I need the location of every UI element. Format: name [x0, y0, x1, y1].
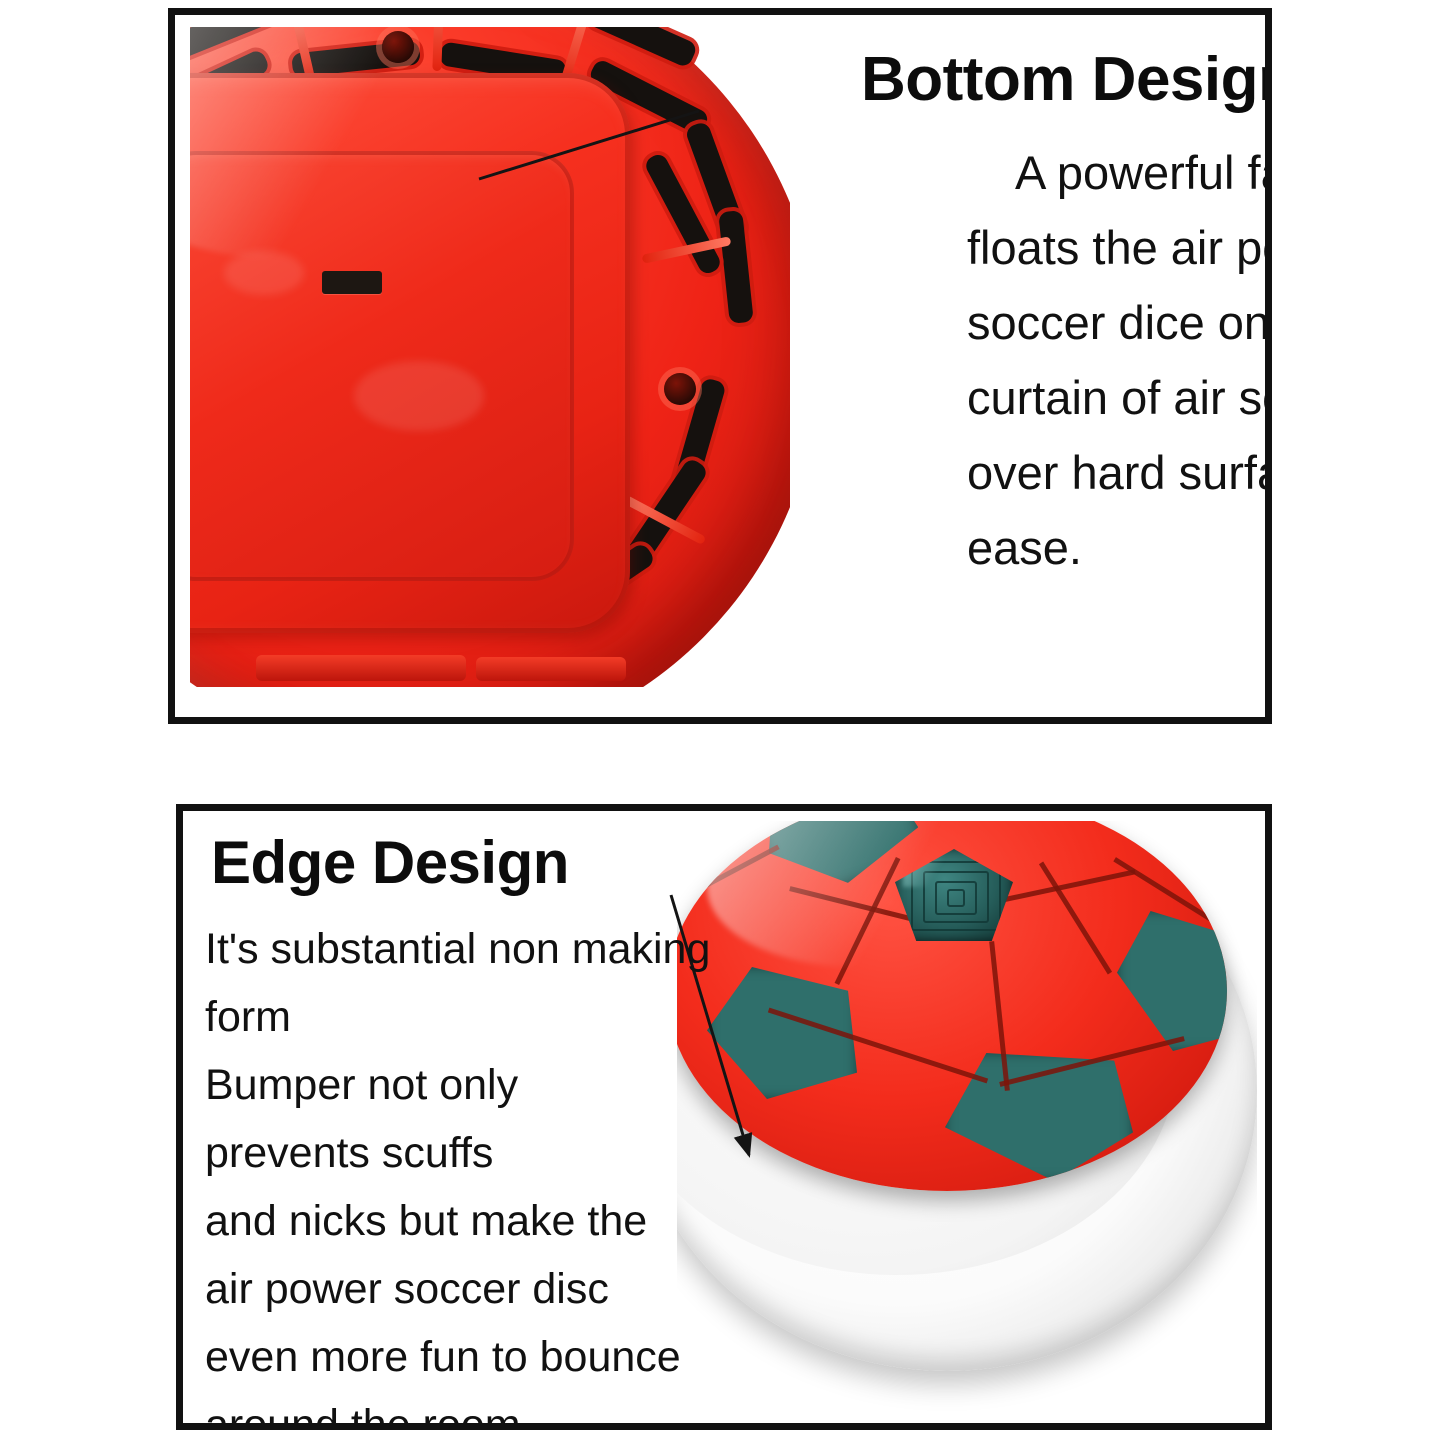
- ball-facet-teal: [1117, 911, 1227, 1051]
- fan-grille: [895, 849, 1013, 941]
- hover-disc-illustration: [697, 821, 1257, 1421]
- battery-cover: [190, 151, 574, 581]
- grille-rib: [947, 889, 965, 907]
- disc-foot: [476, 657, 626, 681]
- disc-base-plate: [190, 73, 630, 633]
- panel-heading-bottom-design: Bottom Design: [861, 49, 1272, 111]
- panel-body-edge-design: It's substantial non making form Bumper …: [205, 915, 725, 1430]
- infographic-stage: Bottom Design A powerful fan floats the …: [0, 0, 1445, 1445]
- ball-seam: [1113, 857, 1217, 925]
- disc-foot: [256, 655, 466, 681]
- product-photo-disc-top: [677, 821, 1257, 1421]
- panel-body-bottom-design: A powerful fan floats the air power socc…: [967, 135, 1272, 585]
- battery-cover-slot: [322, 271, 382, 294]
- panel-bottom-design: Bottom Design A powerful fan floats the …: [168, 8, 1272, 724]
- screw-hole: [664, 373, 696, 405]
- screw-hole: [382, 31, 414, 63]
- disc-underside-illustration: [190, 27, 790, 687]
- ball-seam: [677, 845, 780, 906]
- molding-emboss: [354, 361, 484, 431]
- molding-emboss: [224, 251, 304, 295]
- panel-heading-edge-design: Edge Design: [211, 833, 569, 893]
- product-photo-disc-underside: [190, 27, 790, 687]
- grille-highlight: [903, 857, 947, 887]
- panel-edge-design: Edge Design It's substantial non making …: [176, 804, 1272, 1430]
